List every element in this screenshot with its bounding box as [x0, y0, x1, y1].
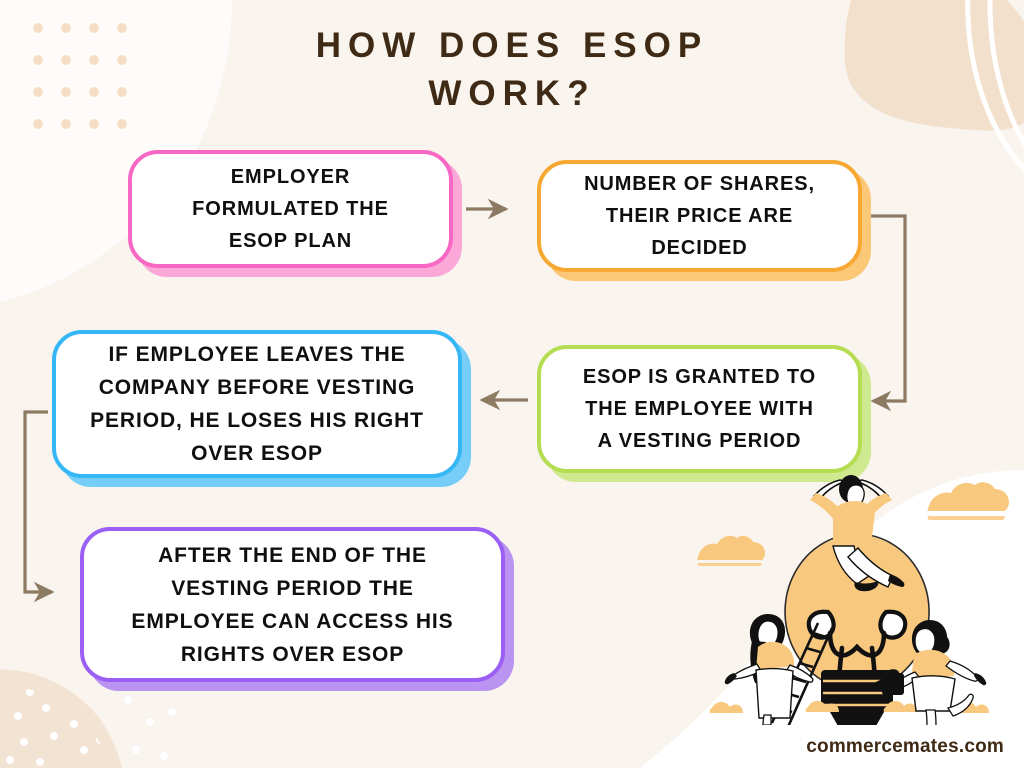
flow-box-esop-granted-vesting-period[interactable]: ESOP IS GRANTED TO THE EMPLOYEE WITH A V… [537, 345, 862, 473]
flow-box-face: ESOP IS GRANTED TO THE EMPLOYEE WITH A V… [537, 345, 862, 473]
site-watermark: commercemates.com [724, 736, 1004, 758]
flow-box-employee-leaves-loses-right[interactable]: IF EMPLOYEE LEAVES THE COMPANY BEFORE VE… [52, 330, 462, 478]
flow-box-face: IF EMPLOYEE LEAVES THE COMPANY BEFORE VE… [52, 330, 462, 478]
flow-box-label: NUMBER OF SHARES, THEIR PRICE ARE DECIDE… [584, 168, 815, 264]
flow-box-label: ESOP IS GRANTED TO THE EMPLOYEE WITH A V… [583, 361, 816, 457]
cloud-icon-right [927, 482, 1009, 520]
flow-box-shares-price-decided[interactable]: NUMBER OF SHARES, THEIR PRICE ARE DECIDE… [537, 160, 862, 272]
lightbulb-teamwork-illustration [690, 465, 1024, 725]
infographic-canvas: HOW DOES ESOP WORK? EMPLOYER FORMULATED … [0, 0, 1024, 768]
flow-box-label: IF EMPLOYEE LEAVES THE COMPANY BEFORE VE… [90, 338, 424, 470]
connector-arrow-4-to-5 [25, 412, 52, 592]
flow-box-label: EMPLOYER FORMULATED THE ESOP PLAN [192, 161, 389, 257]
flow-box-face: AFTER THE END OF THE VESTING PERIOD THE … [80, 527, 505, 682]
flow-box-employer-formulated-plan[interactable]: EMPLOYER FORMULATED THE ESOP PLAN [128, 150, 453, 268]
flow-box-after-vesting-access-rights[interactable]: AFTER THE END OF THE VESTING PERIOD THE … [80, 527, 505, 682]
connector-arrow-2-to-3 [871, 216, 905, 401]
cloud-icon-left [697, 536, 765, 566]
flow-box-face: EMPLOYER FORMULATED THE ESOP PLAN [128, 150, 453, 268]
flow-box-face: NUMBER OF SHARES, THEIR PRICE ARE DECIDE… [537, 160, 862, 272]
flow-box-label: AFTER THE END OF THE VESTING PERIOD THE … [131, 539, 453, 671]
